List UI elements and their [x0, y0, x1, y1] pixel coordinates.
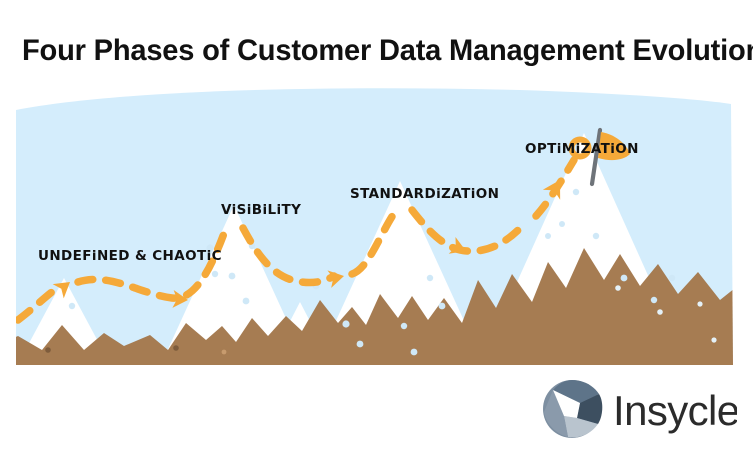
page-title: Four Phases of Customer Data Management …: [22, 34, 731, 68]
insycle-wordmark: Insycle: [613, 387, 737, 434]
phase-label-optimization: OPTiMiZATiON: [525, 141, 639, 157]
mountain-journey-illustration: UNDEFiNED & CHAOTiC ViSiBiLiTY STANDARDi…: [0, 88, 753, 373]
infographic-page: Four Phases of Customer Data Management …: [0, 0, 753, 453]
insycle-logo-mark: [543, 380, 602, 438]
phase-label-visibility: ViSiBiLiTY: [221, 202, 301, 218]
phase-label-undefined-chaotic: UNDEFiNED & CHAOTiC: [38, 248, 222, 264]
phase-label-standardization: STANDARDiZATiON: [350, 186, 499, 202]
insycle-logo: Insycle: [541, 378, 737, 440]
